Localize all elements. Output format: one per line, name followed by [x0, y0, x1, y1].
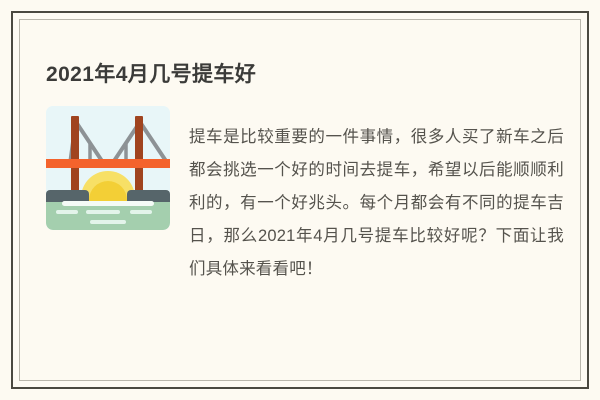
article-card: 2021年4月几号提车好 [0, 0, 600, 400]
article-body-text: 提车是比较重要的一件事情，很多人买了新车之后都会挑选一个好的时间去提车，希望以后… [189, 121, 564, 286]
bridge-sunset-icon [46, 106, 170, 230]
page-title: 2021年4月几号提车好 [46, 60, 256, 90]
content-row: 提车是比较重要的一件事情，很多人买了新车之后都会挑选一个好的时间去提车，希望以后… [46, 104, 564, 302]
